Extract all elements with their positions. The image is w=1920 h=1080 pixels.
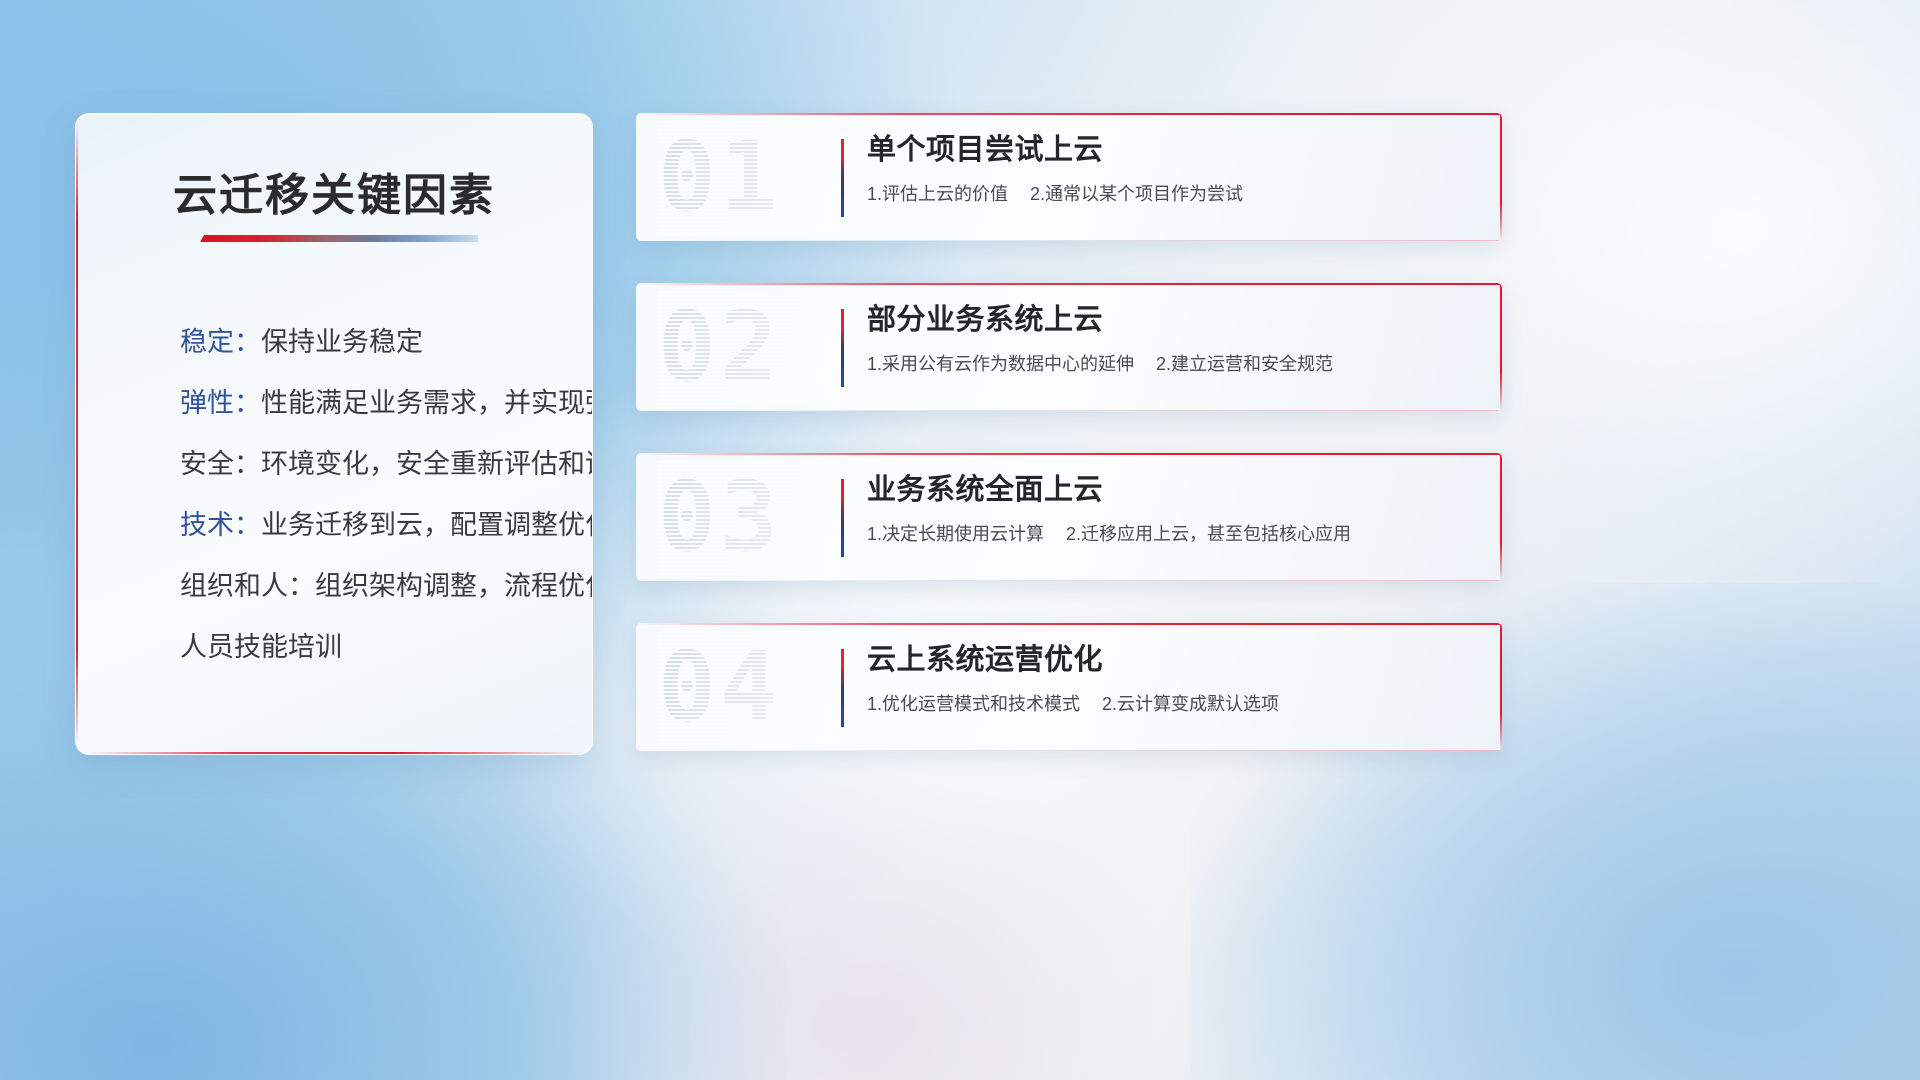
card-bottom-edge <box>636 580 1502 581</box>
card-right-accent <box>1500 283 1502 411</box>
factor-value: 保持业务稳定 <box>261 327 423 357</box>
stage-card[interactable]: 01单个项目尝试上云1.评估上云的价值2.通常以某个项目作为尝试 <box>636 113 1502 241</box>
card-accent-bar <box>841 649 844 727</box>
card-point-2: 2.通常以某个项目作为尝试 <box>1030 184 1243 204</box>
card-subtitle: 1.采用公有云作为数据中心的延伸2.建立运营和安全规范 <box>867 350 1478 376</box>
card-title: 云上系统运营优化 <box>867 642 1478 679</box>
stage-card[interactable]: 03业务系统全面上云1.决定长期使用云计算2.迁移应用上云，甚至包括核心应用 <box>636 453 1502 581</box>
factor-row: 安全：环境变化，安全重新评估和评审 <box>180 434 552 495</box>
card-point-2: 2.云计算变成默认选项 <box>1102 694 1279 714</box>
factor-value: 性能满足业务需求，并实现弹性 <box>261 388 593 418</box>
card-step-number: 04 <box>658 629 838 745</box>
card-right-accent <box>1500 453 1502 581</box>
factor-label: 安全： <box>180 449 261 479</box>
stage-card[interactable]: 04云上系统运营优化1.优化运营模式和技术模式2.云计算变成默认选项 <box>636 623 1502 751</box>
card-bottom-edge <box>636 750 1502 751</box>
step-number-stripe-overlay <box>658 289 838 405</box>
card-title: 业务系统全面上云 <box>867 472 1478 509</box>
card-bottom-edge <box>636 410 1502 411</box>
factor-value: 环境变化，安全重新评估和评审 <box>261 449 593 479</box>
step-number-fade-overlay <box>658 459 838 575</box>
card-top-accent <box>636 623 1502 625</box>
card-accent-bar <box>841 309 844 387</box>
card-point-1: 1.决定长期使用云计算 <box>867 524 1044 544</box>
page-title: 云迁移关键因素 <box>76 159 592 223</box>
card-point-1: 1.采用公有云作为数据中心的延伸 <box>867 354 1134 374</box>
step-number-fade-overlay <box>658 119 838 235</box>
card-step-number: 03 <box>658 459 838 575</box>
card-subtitle: 1.优化运营模式和技术模式2.云计算变成默认选项 <box>867 690 1478 716</box>
card-body: 云上系统运营优化1.优化运营模式和技术模式2.云计算变成默认选项 <box>867 642 1478 716</box>
factor-list: 稳定：保持业务稳定弹性：性能满足业务需求，并实现弹性安全：环境变化，安全重新评估… <box>180 312 552 678</box>
card-bottom-edge <box>636 240 1502 241</box>
factor-label: 技术： <box>180 510 261 540</box>
factor-row: 弹性：性能满足业务需求，并实现弹性 <box>180 373 552 434</box>
card-title: 单个项目尝试上云 <box>867 132 1478 169</box>
card-right-accent <box>1500 623 1502 751</box>
factor-label: 组织和人： <box>180 571 315 601</box>
card-title: 部分业务系统上云 <box>867 302 1478 339</box>
step-number-stripe-overlay <box>658 119 838 235</box>
card-step-number: 01 <box>658 119 838 235</box>
factor-row: 稳定：保持业务稳定 <box>180 312 552 373</box>
card-accent-bar <box>841 479 844 557</box>
card-right-accent <box>1500 113 1502 241</box>
card-body: 部分业务系统上云1.采用公有云作为数据中心的延伸2.建立运营和安全规范 <box>867 302 1478 376</box>
title-underline-gradient <box>200 235 478 242</box>
background-blob-lower-center <box>576 778 1152 1080</box>
card-accent-bar <box>841 139 844 217</box>
step-number-stripe-overlay <box>658 629 838 745</box>
card-point-1: 1.优化运营模式和技术模式 <box>867 694 1080 714</box>
factor-row: 人员技能培训 <box>180 617 552 678</box>
factor-value: 业务迁移到云，配置调整优化 <box>261 510 593 540</box>
factor-row: 技术：业务迁移到云，配置调整优化 <box>180 495 552 556</box>
card-point-1: 1.评估上云的价值 <box>867 184 1008 204</box>
stage-card[interactable]: 02部分业务系统上云1.采用公有云作为数据中心的延伸2.建立运营和安全规范 <box>636 283 1502 411</box>
card-body: 业务系统全面上云1.决定长期使用云计算2.迁移应用上云，甚至包括核心应用 <box>867 472 1478 546</box>
factor-label: 稳定： <box>180 327 261 357</box>
card-point-2: 2.建立运营和安全规范 <box>1156 354 1333 374</box>
step-number-stripe-overlay <box>658 459 838 575</box>
card-subtitle: 1.评估上云的价值2.通常以某个项目作为尝试 <box>867 180 1478 206</box>
card-point-2: 2.迁移应用上云，甚至包括核心应用 <box>1066 524 1351 544</box>
factor-label: 弹性： <box>180 388 261 418</box>
card-top-accent <box>636 283 1502 285</box>
card-body: 单个项目尝试上云1.评估上云的价值2.通常以某个项目作为尝试 <box>867 132 1478 206</box>
card-subtitle: 1.决定长期使用云计算2.迁移应用上云，甚至包括核心应用 <box>867 520 1478 546</box>
card-top-accent <box>636 453 1502 455</box>
card-top-accent <box>636 113 1502 115</box>
panel-bottom-accent-bar <box>86 752 582 754</box>
factor-value: 人员技能培训 <box>180 632 342 662</box>
card-step-number: 02 <box>658 289 838 405</box>
factor-value: 组织架构调整，流程优化， <box>315 571 593 601</box>
factor-row: 组织和人：组织架构调整，流程优化， <box>180 556 552 617</box>
stage-card-list: 01单个项目尝试上云1.评估上云的价值2.通常以某个项目作为尝试02部分业务系统… <box>636 113 1502 793</box>
step-number-fade-overlay <box>658 629 838 745</box>
step-number-fade-overlay <box>658 289 838 405</box>
key-factors-panel: 云迁移关键因素 稳定：保持业务稳定弹性：性能满足业务需求，并实现弹性安全：环境变… <box>75 113 593 755</box>
